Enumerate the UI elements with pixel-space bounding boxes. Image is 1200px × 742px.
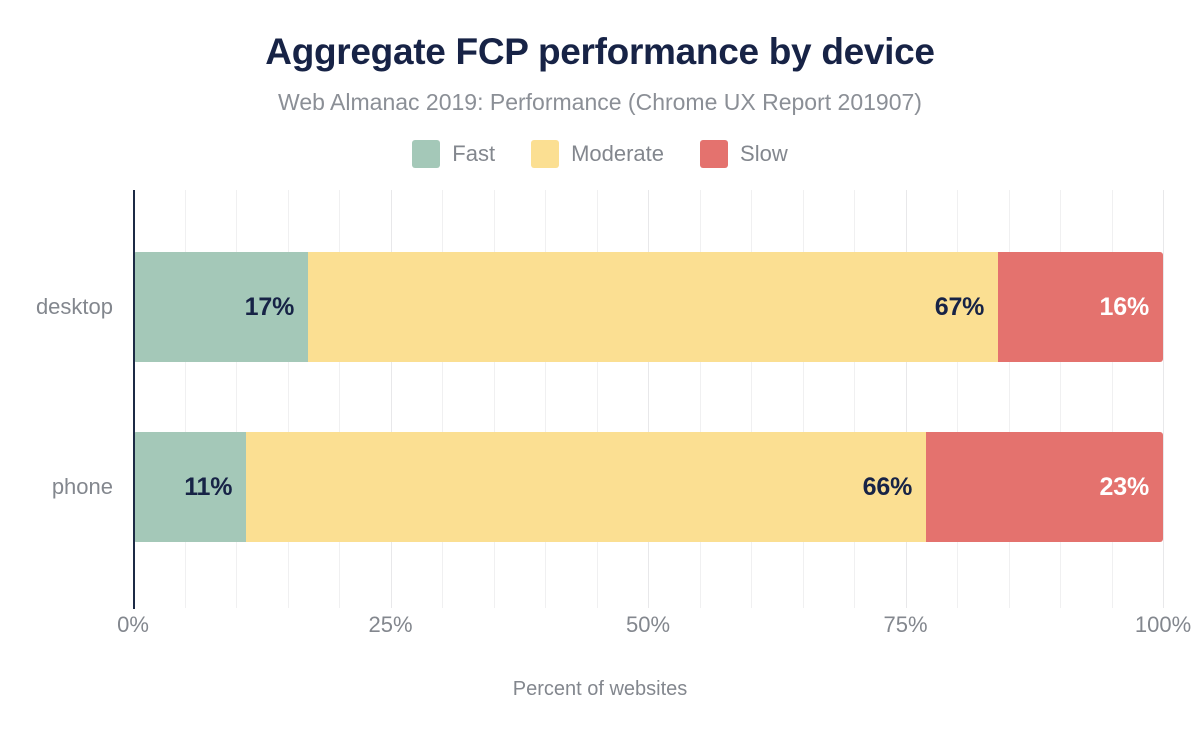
x-axis-tick-50%: 50% — [626, 614, 670, 636]
chart-title: Aggregate FCP performance by device — [0, 32, 1200, 73]
chart-legend: FastModerateSlow — [0, 140, 1200, 168]
gridline-major — [1163, 190, 1164, 608]
legend-swatch-icon — [700, 140, 728, 168]
legend-swatch-icon — [412, 140, 440, 168]
chart-container: Aggregate FCP performance by device Web … — [0, 0, 1200, 742]
bar-segment-phone-fast[interactable]: 11% — [133, 432, 246, 542]
legend-item-moderate[interactable]: Moderate — [531, 140, 664, 168]
y-axis-label-phone: phone — [0, 476, 113, 498]
legend-swatch-icon — [531, 140, 559, 168]
legend-item-fast[interactable]: Fast — [412, 140, 495, 168]
bar-segment-phone-moderate[interactable]: 66% — [246, 432, 926, 542]
y-axis-label-desktop: desktop — [0, 296, 113, 318]
bar-segment-phone-slow[interactable]: 23% — [926, 432, 1163, 542]
legend-label: Fast — [452, 143, 495, 165]
legend-item-slow[interactable]: Slow — [700, 140, 788, 168]
bar-value-label: 66% — [863, 473, 912, 502]
stacked-bar-desktop: 17%67%16% — [133, 252, 1163, 362]
x-axis-tick-0%: 0% — [117, 614, 149, 636]
x-axis-tick-25%: 25% — [368, 614, 412, 636]
bar-row-phone: 11%66%23% — [133, 432, 1163, 542]
plot-area: 17%67%16%11%66%23% — [133, 190, 1163, 608]
y-axis-line — [133, 190, 135, 609]
bar-value-label: 11% — [184, 473, 232, 502]
bar-row-desktop: 17%67%16% — [133, 252, 1163, 362]
chart-subtitle: Web Almanac 2019: Performance (Chrome UX… — [0, 90, 1200, 115]
stacked-bar-phone: 11%66%23% — [133, 432, 1163, 542]
bar-value-label: 17% — [245, 293, 294, 322]
legend-label: Slow — [740, 143, 788, 165]
x-axis-tick-75%: 75% — [883, 614, 927, 636]
bar-value-label: 23% — [1100, 473, 1149, 502]
x-axis-tick-100%: 100% — [1135, 614, 1191, 636]
x-axis-title: Percent of websites — [0, 678, 1200, 701]
bar-segment-desktop-slow[interactable]: 16% — [998, 252, 1163, 362]
bar-segment-desktop-moderate[interactable]: 67% — [308, 252, 998, 362]
bar-segment-desktop-fast[interactable]: 17% — [133, 252, 308, 362]
legend-label: Moderate — [571, 143, 664, 165]
bar-value-label: 16% — [1100, 293, 1149, 322]
bar-value-label: 67% — [935, 293, 984, 322]
